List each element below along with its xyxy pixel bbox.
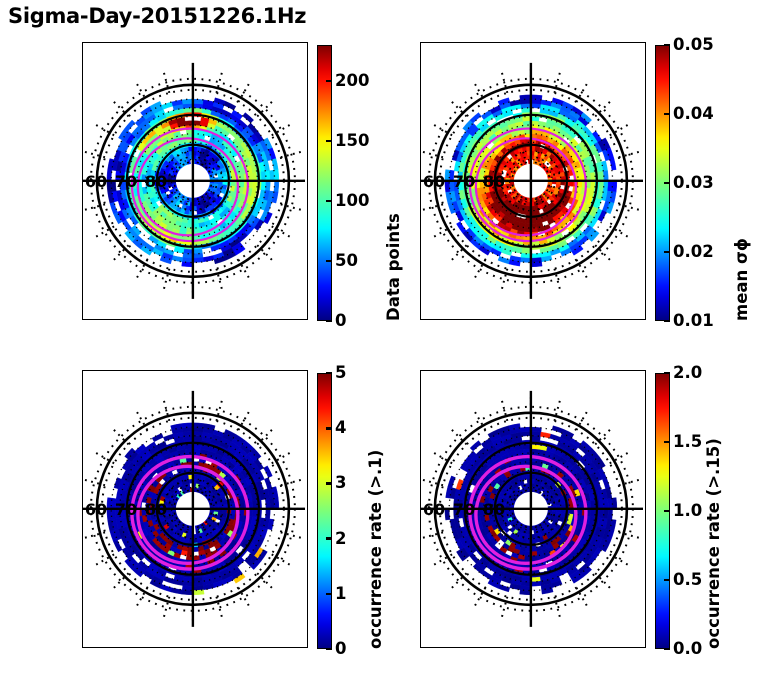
heatmap-cell xyxy=(448,476,456,488)
latitude-label: 80 xyxy=(145,500,167,519)
heatmap-cell xyxy=(171,588,183,594)
heatmap-cell xyxy=(498,256,510,264)
colorbar-tick-mark xyxy=(664,182,670,185)
colorbar-tick-label: 0.5 xyxy=(673,570,702,589)
heatmap-cell xyxy=(265,509,270,519)
colorbar-tick-mark xyxy=(326,593,332,596)
colorbar-tick-mark xyxy=(664,251,670,254)
latitude-label: 80 xyxy=(145,172,167,191)
heatmap-cell xyxy=(122,220,131,231)
heatmap-cell xyxy=(550,434,561,441)
heatmap-cell xyxy=(445,170,450,181)
heatmap-cell xyxy=(243,113,254,123)
heatmap-cell xyxy=(599,171,604,181)
heatmap-cell xyxy=(531,95,542,100)
colorbar-tick-label: 0.03 xyxy=(673,173,714,192)
figure-canvas: Sigma-Day-20151226.1Hz 60708005010015020… xyxy=(0,0,759,674)
heatmap-cell xyxy=(253,181,258,189)
heatmap-cell xyxy=(540,432,550,438)
colorbar-tick-label: 0.04 xyxy=(673,104,714,123)
colorbar-axis-label: Data points xyxy=(384,213,403,321)
heatmap-cell xyxy=(125,120,135,131)
colorbar-tick-label: 0.05 xyxy=(673,35,714,54)
colorbar-tick-label: 2.0 xyxy=(673,363,702,382)
latitude-label: 70 xyxy=(115,172,137,191)
heatmap-cell xyxy=(272,159,278,171)
heatmap-cell xyxy=(193,581,203,586)
colorbar-tick-mark xyxy=(326,427,332,430)
heatmap-cell xyxy=(603,499,608,509)
colorbar-tick-mark xyxy=(664,648,670,651)
colorbar-tick-mark xyxy=(664,579,670,582)
heatmap-cell xyxy=(193,103,203,108)
data-points-polar-plot: 607080 xyxy=(82,42,308,320)
colorbar-tick-label: 4 xyxy=(335,418,346,437)
heatmap-cell xyxy=(531,262,542,267)
heatmap-cell xyxy=(184,444,192,449)
colorbar-top-left[interactable] xyxy=(317,45,332,321)
colorbar-bottom-left[interactable] xyxy=(317,373,332,649)
colorbar-tick-mark xyxy=(664,113,670,116)
occurrence-rate-01-polar-plot: 607080 xyxy=(82,370,308,648)
colorbar-tick-label: 5 xyxy=(335,363,346,382)
heatmap-cell xyxy=(498,584,510,592)
colorbar-axis-label: mean σϕ xyxy=(732,238,751,321)
colorbar-tick-label: 0.01 xyxy=(673,311,714,330)
colorbar-axis-label: occurrence rate (>.1) xyxy=(366,450,385,649)
heatmap-cell xyxy=(265,499,270,509)
colorbar-tick-mark xyxy=(326,537,332,540)
colorbar-tick-label: 1.0 xyxy=(673,501,702,520)
heatmap-cell xyxy=(531,253,541,258)
heatmap-cell xyxy=(224,101,236,110)
colorbar-tick-label: 50 xyxy=(335,251,358,270)
heatmap-cell xyxy=(182,258,193,263)
heatmap-cell xyxy=(193,431,203,436)
heatmap-cell xyxy=(107,498,112,509)
heatmap-cell xyxy=(265,171,270,181)
colorbar-tick-mark xyxy=(326,200,332,203)
heatmap-cell xyxy=(172,256,183,262)
heatmap-cell xyxy=(253,509,258,517)
heatmap-cell xyxy=(162,102,173,109)
heatmap-cell xyxy=(603,181,608,191)
colorbar-tick-mark xyxy=(326,372,332,375)
colorbar-tick-label: 1 xyxy=(335,584,346,603)
heatmap-cell xyxy=(152,433,163,441)
heatmap-cell xyxy=(470,113,481,123)
heatmap-cell xyxy=(193,590,204,595)
heatmap-cell xyxy=(531,444,539,449)
heatmap-cell xyxy=(470,441,481,451)
latitude-label: 60 xyxy=(423,500,445,519)
heatmap-cell xyxy=(261,181,266,191)
heatmap-cell xyxy=(599,181,604,191)
colorbar-tick-mark xyxy=(326,140,332,143)
colorbar-tick-label: 200 xyxy=(335,71,369,90)
latitude-label: 60 xyxy=(423,172,445,191)
colorbar-tick-mark xyxy=(664,510,670,513)
heatmap-cell xyxy=(594,153,601,163)
heatmap-cell xyxy=(603,509,608,519)
heatmap-cell xyxy=(522,116,530,121)
figure-title: Sigma-Day-20151226.1Hz xyxy=(8,4,306,28)
mean-sigma-phi-polar-plot: 607080 xyxy=(420,42,646,320)
heatmap-cell xyxy=(531,431,541,436)
colorbar-tick-label: 0.02 xyxy=(673,242,714,261)
heatmap-cell xyxy=(264,466,273,478)
colorbar-tick-label: 0 xyxy=(335,311,346,330)
heatmap-cell xyxy=(531,581,541,586)
latitude-label: 60 xyxy=(85,500,107,519)
heatmap-cell xyxy=(193,253,203,258)
heatmap-cell xyxy=(531,116,539,121)
heatmap-cell xyxy=(522,444,530,449)
heatmap-cell xyxy=(599,509,604,519)
heatmap-cell xyxy=(182,586,193,591)
colorbar-tick-mark xyxy=(664,441,670,444)
colorbar-tick-mark xyxy=(664,372,670,375)
heatmap-cell xyxy=(531,103,541,108)
colorbar-tick-mark xyxy=(326,482,332,485)
heatmap-cell xyxy=(203,256,214,262)
heatmap-cell xyxy=(193,577,203,582)
heatmap-cell xyxy=(520,258,531,263)
heatmap-cell xyxy=(163,576,174,583)
colorbar-tick-label: 0 xyxy=(335,639,346,658)
heatmap-cell xyxy=(603,171,608,181)
heatmap-cell xyxy=(520,586,531,591)
heatmap-cell xyxy=(110,202,118,214)
heatmap-cell xyxy=(591,181,596,189)
colorbar-tick-mark xyxy=(326,320,332,323)
latitude-label: 70 xyxy=(453,500,475,519)
colorbar-tick-label: 0.0 xyxy=(673,639,702,658)
colorbar-tick-label: 150 xyxy=(335,131,369,150)
latitude-label: 70 xyxy=(453,172,475,191)
colorbar-tick-label: 2 xyxy=(335,529,346,548)
heatmap-cell xyxy=(599,499,604,509)
colorbar-tick-mark xyxy=(326,80,332,83)
heatmap-cell xyxy=(193,444,201,449)
colorbar-tick-mark xyxy=(326,648,332,651)
colorbar-tick-label: 100 xyxy=(335,191,369,210)
heatmap-cell xyxy=(265,181,270,191)
colorbar-tick-label: 3 xyxy=(335,473,346,492)
heatmap-cell xyxy=(261,171,266,181)
colorbar-axis-label: occurrence rate (>.15) xyxy=(704,438,723,649)
heatmap-cell xyxy=(552,426,564,434)
heatmap-cell xyxy=(160,584,172,592)
heatmap-cell xyxy=(193,249,203,254)
latitude-label: 70 xyxy=(115,500,137,519)
colorbar-tick-mark xyxy=(326,260,332,263)
latitude-label: 80 xyxy=(483,500,505,519)
heatmap-cell xyxy=(535,538,540,543)
heatmap-cell xyxy=(610,159,616,171)
heatmap-cell xyxy=(107,170,112,181)
colorbar-tick-mark xyxy=(664,44,670,47)
colorbar-tick-label: 1.5 xyxy=(673,432,702,451)
latitude-label: 60 xyxy=(85,172,107,191)
heatmap-cell xyxy=(531,577,541,582)
latitude-label: 80 xyxy=(483,172,505,191)
heatmap-cell xyxy=(193,423,204,428)
colorbar-tick-mark xyxy=(664,320,670,323)
occurrence-rate-015-polar-plot: 607080 xyxy=(420,370,646,648)
heatmap-cell xyxy=(591,509,596,517)
